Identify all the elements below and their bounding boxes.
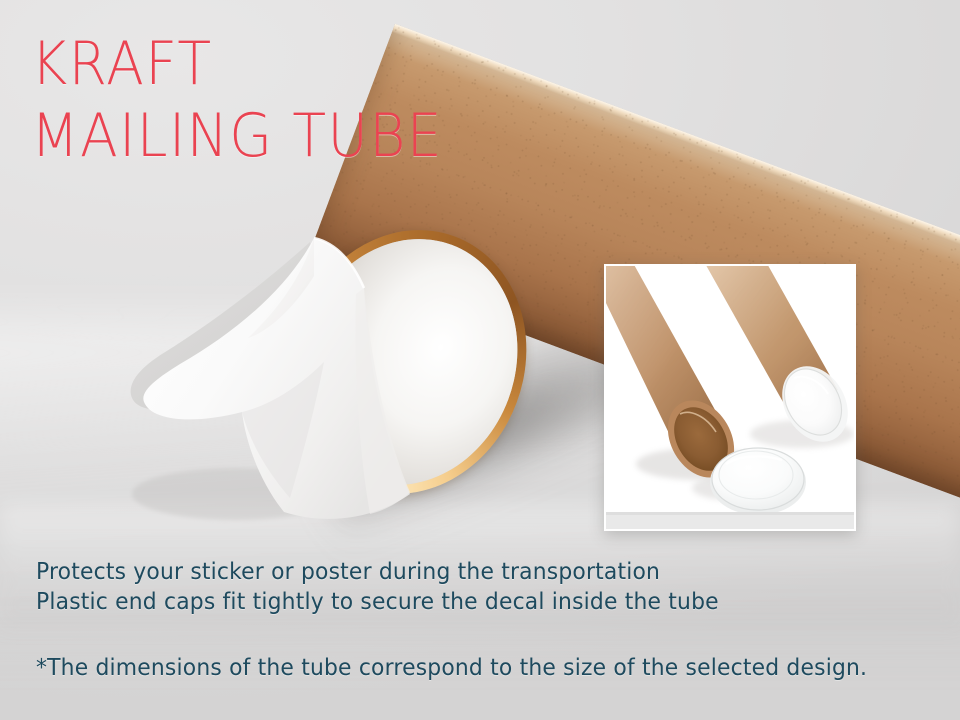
white-poster-curl <box>118 236 448 536</box>
headline-line-1: KRAFT <box>31 29 212 99</box>
headline-line-2: MAILING TUBE <box>31 100 443 172</box>
page-title: KRAFTMAILING TUBE <box>31 28 443 172</box>
inset-product-photo <box>604 264 856 531</box>
feature-line-1: Protects your sticker or poster during t… <box>36 557 719 587</box>
footnote-text: *The dimensions of the tube correspond t… <box>36 653 867 683</box>
feature-line-2: Plastic end caps fit tightly to secure t… <box>36 587 719 617</box>
feature-description: Protects your sticker or poster during t… <box>36 557 719 617</box>
loose-plastic-end-cap <box>710 448 806 515</box>
product-banner: KRAFTMAILING TUBE Protects your sticker … <box>0 0 960 720</box>
